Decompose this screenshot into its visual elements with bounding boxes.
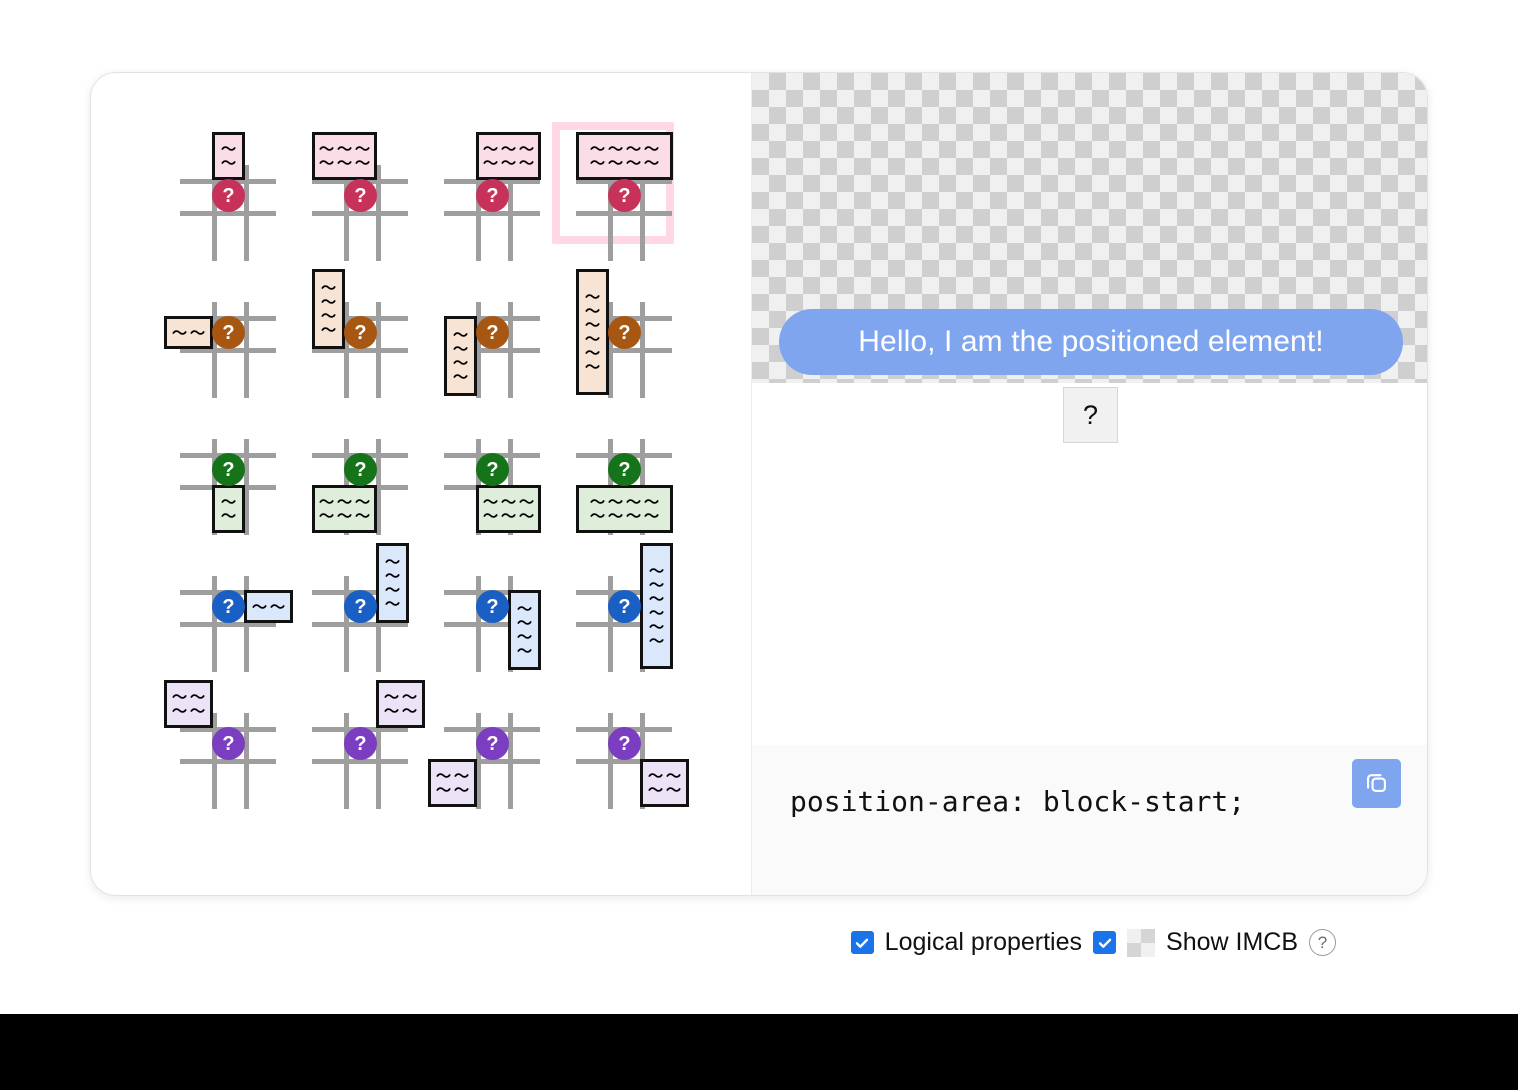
anchor-dot-inline-start: ?	[344, 316, 377, 349]
anchor-dot-block-end: ?	[476, 453, 509, 486]
anchor-dot-inline-start: ?	[212, 316, 245, 349]
squiggle-glyph: 〜	[626, 510, 641, 522]
anchor-dot-block-end: ?	[212, 453, 245, 486]
position-area-option-inline-end-single[interactable]: 〜〜?	[166, 544, 298, 681]
option-stage: 〜〜〜〜?	[298, 544, 430, 681]
show-imcb-checkbox[interactable]	[1093, 931, 1116, 954]
squiggle-glyph: 〜	[590, 157, 605, 169]
squiggle-glyph: 〜	[590, 510, 605, 522]
squiggle-glyph: 〜	[501, 157, 516, 169]
squiggle-glyph: 〜	[517, 645, 532, 657]
position-area-option-block-end-single[interactable]: 〜〜?	[166, 407, 298, 544]
anchor-dot-block-start: ?	[212, 179, 245, 212]
squiggle-row: 〜	[585, 361, 600, 373]
squiggle-glyph: 〜	[501, 510, 516, 522]
squiggle-glyph: 〜	[319, 510, 334, 522]
option-stage: 〜〜〜〜〜〜?	[430, 133, 562, 270]
copy-icon	[1363, 769, 1390, 799]
grid-line	[476, 576, 481, 672]
positioned-box-preview: 〜〜〜〜	[640, 759, 689, 807]
squiggle-row: 〜	[649, 635, 664, 647]
squiggle-row: 〜〜	[172, 705, 205, 717]
position-area-option-inline-end-span-all[interactable]: 〜〜〜〜〜〜?	[562, 544, 694, 681]
squiggle-glyph: 〜	[453, 371, 468, 383]
option-stage: 〜〜〜〜〜〜〜〜?	[562, 407, 694, 544]
option-stage: 〜〜?	[166, 270, 298, 407]
grid-line	[212, 576, 217, 672]
squiggle-glyph: 〜	[644, 510, 659, 522]
squiggle-glyph: 〜	[454, 784, 469, 796]
position-area-option-inline-end-span-block-start[interactable]: 〜〜〜〜?	[298, 544, 430, 681]
squiggle-glyph: 〜	[252, 601, 267, 613]
css-declaration-text: position-area: block-start;	[790, 785, 1245, 818]
position-area-option-block-start-span-all-none[interactable]: 〜〜?	[166, 133, 298, 270]
squiggle-row: 〜〜〜	[483, 510, 534, 522]
squiggle-glyph: 〜	[436, 784, 451, 796]
anchor-dot-diagonal: ?	[476, 727, 509, 760]
position-area-option-inline-start-span-block-start[interactable]: 〜〜〜〜?	[298, 270, 430, 407]
option-stage: 〜〜〜〜〜〜?	[562, 270, 694, 407]
squiggle-glyph: 〜	[190, 327, 205, 339]
squiggle-glyph: 〜	[648, 784, 663, 796]
squiggle-glyph: 〜	[270, 601, 285, 613]
positioned-box-preview: 〜〜〜〜〜〜	[476, 485, 541, 533]
help-icon[interactable]: ?	[1309, 929, 1336, 956]
anchor-dot-inline-start: ?	[608, 316, 641, 349]
position-area-card: 〜〜?〜〜〜〜〜〜?〜〜〜〜〜〜?〜〜〜〜〜〜〜〜?〜〜?〜〜〜〜?〜〜〜〜?〜…	[90, 72, 1428, 896]
squiggle-glyph: 〜	[519, 157, 534, 169]
squiggle-glyph: 〜	[402, 705, 417, 717]
anchor-dot-inline-end: ?	[476, 590, 509, 623]
positioned-box-preview: 〜〜〜〜	[428, 759, 477, 807]
option-stage: 〜〜〜〜〜〜?	[430, 407, 562, 544]
logical-properties-label: Logical properties	[885, 928, 1082, 957]
anchor-dot-block-start: ?	[344, 179, 377, 212]
positioned-box-preview: 〜〜〜〜	[164, 680, 213, 728]
squiggle-glyph: 〜	[608, 157, 623, 169]
option-stage: 〜〜〜〜〜〜?	[298, 407, 430, 544]
option-stage: 〜〜〜〜?	[298, 681, 430, 818]
position-area-option-block-end-span-all[interactable]: 〜〜〜〜〜〜〜〜?	[562, 407, 694, 544]
squiggle-glyph: 〜	[337, 157, 352, 169]
squiggle-glyph: 〜	[384, 705, 399, 717]
squiggle-row: 〜	[517, 645, 532, 657]
grid-line	[640, 302, 645, 398]
position-area-option-block-start-span-inline-end[interactable]: 〜〜〜〜〜〜?	[430, 133, 562, 270]
anchor-dot-block-end: ?	[608, 453, 641, 486]
positioned-box-preview: 〜〜	[212, 485, 245, 533]
grid-line	[376, 302, 381, 398]
option-stage: 〜〜〜〜〜〜〜〜?	[562, 133, 694, 270]
squiggle-glyph: 〜	[666, 784, 681, 796]
positioned-box-preview: 〜〜〜〜	[376, 543, 409, 623]
squiggle-glyph: 〜	[608, 510, 623, 522]
page-root: 〜〜?〜〜〜〜〜〜?〜〜〜〜〜〜?〜〜〜〜〜〜〜〜?〜〜?〜〜〜〜?〜〜〜〜?〜…	[0, 0, 1518, 1090]
squiggle-row: 〜〜〜	[483, 157, 534, 169]
grid-line	[244, 302, 249, 398]
squiggle-glyph: 〜	[321, 324, 336, 336]
option-stage: 〜〜〜〜?	[298, 270, 430, 407]
grid-line	[244, 713, 249, 809]
squiggle-glyph: 〜	[221, 157, 236, 169]
page-bottom-bar	[0, 1014, 1518, 1090]
position-area-option-inline-start-span-block-end[interactable]: 〜〜〜〜?	[430, 270, 562, 407]
squiggle-glyph: 〜	[626, 157, 641, 169]
positioned-box-preview: 〜〜〜〜	[444, 316, 477, 396]
code-output-box: position-area: block-start;	[752, 745, 1427, 895]
positioned-box-preview: 〜〜〜〜	[376, 680, 425, 728]
positioned-box-preview: 〜〜〜〜〜〜	[640, 543, 673, 669]
squiggle-row: 〜	[221, 157, 236, 169]
grid-line	[608, 713, 613, 809]
grid-line	[344, 576, 349, 672]
option-stage: 〜〜〜〜?	[430, 544, 562, 681]
squiggle-glyph: 〜	[172, 327, 187, 339]
option-stage: 〜〜〜〜?	[562, 681, 694, 818]
position-area-option-inline-end-span-block-end[interactable]: 〜〜〜〜?	[430, 544, 562, 681]
anchor-dot-diagonal: ?	[344, 727, 377, 760]
anchor-dot-block-start: ?	[476, 179, 509, 212]
imcb-swatch-icon	[1127, 929, 1155, 957]
positioned-box-preview: 〜〜	[212, 132, 245, 180]
position-area-option-block-end-span-inline-end[interactable]: 〜〜〜〜〜〜?	[430, 407, 562, 544]
squiggle-glyph: 〜	[221, 510, 236, 522]
option-stage: 〜〜〜〜?	[430, 681, 562, 818]
squiggle-glyph: 〜	[483, 510, 498, 522]
squiggle-row: 〜〜	[384, 705, 417, 717]
squiggle-glyph: 〜	[355, 157, 370, 169]
anchor-dot-inline-end: ?	[212, 590, 245, 623]
position-area-picker-panel: 〜〜?〜〜〜〜〜〜?〜〜〜〜〜〜?〜〜〜〜〜〜〜〜?〜〜?〜〜〜〜?〜〜〜〜?〜…	[91, 73, 751, 895]
option-stage: 〜〜〜〜?	[430, 270, 562, 407]
option-stage: 〜〜〜〜〜〜?	[562, 544, 694, 681]
option-stage: 〜〜〜〜?	[166, 681, 298, 818]
squiggle-glyph: 〜	[190, 705, 205, 717]
squiggle-row: 〜〜	[172, 327, 205, 339]
squiggle-row: 〜〜〜〜	[590, 157, 659, 169]
squiggle-glyph: 〜	[355, 510, 370, 522]
position-area-option-inline-start-single[interactable]: 〜〜?	[166, 270, 298, 407]
squiggle-glyph: 〜	[172, 705, 187, 717]
anchor-dot-inline-end: ?	[344, 590, 377, 623]
option-stage: 〜〜?	[166, 133, 298, 270]
option-stage: 〜〜?	[166, 407, 298, 544]
options-row: Logical properties Show IMCB ?	[0, 928, 1428, 957]
squiggle-glyph: 〜	[385, 598, 400, 610]
squiggle-glyph: 〜	[649, 635, 664, 647]
positioned-box-preview: 〜〜〜〜	[508, 590, 541, 670]
show-imcb-label: Show IMCB	[1166, 928, 1298, 957]
position-area-option-start-end[interactable]: 〜〜〜〜?	[298, 681, 430, 818]
squiggle-glyph: 〜	[337, 510, 352, 522]
anchor-element-chip[interactable]: ?	[1063, 387, 1118, 443]
anchor-dot-inline-end: ?	[608, 590, 641, 623]
position-area-option-block-start-span-all[interactable]: 〜〜〜〜〜〜〜〜?	[562, 133, 694, 270]
squiggle-glyph: 〜	[319, 157, 334, 169]
positioned-box-preview: 〜〜	[164, 316, 213, 349]
position-area-option-block-start-span-inline-start[interactable]: 〜〜〜〜〜〜?	[298, 133, 430, 270]
positioned-box-preview: 〜〜〜〜〜〜	[576, 269, 609, 395]
positioned-box-preview: 〜〜〜〜〜〜	[312, 485, 377, 533]
position-area-option-inline-start-span-all[interactable]: 〜〜〜〜〜〜?	[562, 270, 694, 407]
positioned-box-preview: 〜〜	[244, 590, 293, 623]
anchor-dot-diagonal: ?	[212, 727, 245, 760]
grid-line	[508, 713, 513, 809]
position-area-option-end-end[interactable]: 〜〜〜〜?	[562, 681, 694, 818]
squiggle-row: 〜	[385, 598, 400, 610]
squiggle-row: 〜〜	[436, 784, 469, 796]
grid-line	[508, 302, 513, 398]
logical-properties-checkbox[interactable]	[851, 931, 874, 954]
anchor-dot-diagonal: ?	[608, 727, 641, 760]
squiggle-row: 〜〜	[252, 601, 285, 613]
squiggle-row: 〜	[221, 510, 236, 522]
position-area-option-start-start[interactable]: 〜〜〜〜?	[166, 681, 298, 818]
squiggle-row: 〜〜〜	[319, 157, 370, 169]
positioned-box-preview: 〜〜〜〜〜〜〜〜	[576, 485, 673, 533]
positioned-box-preview: 〜〜〜〜〜〜〜〜	[576, 132, 673, 180]
preview-panel: Hello, I am the positioned element! ? po…	[751, 73, 1427, 895]
grid-line	[608, 576, 613, 672]
squiggle-glyph: 〜	[519, 510, 534, 522]
squiggle-glyph: 〜	[644, 157, 659, 169]
squiggle-glyph: 〜	[483, 157, 498, 169]
positioned-element-bubble: Hello, I am the positioned element!	[779, 309, 1403, 375]
squiggle-row: 〜〜〜	[319, 510, 370, 522]
grid-line	[344, 713, 349, 809]
squiggle-glyph: 〜	[585, 361, 600, 373]
anchor-dot-block-end: ?	[344, 453, 377, 486]
anchor-dot-inline-start: ?	[476, 316, 509, 349]
anchor-dot-block-start: ?	[608, 179, 641, 212]
squiggle-row: 〜〜〜〜	[590, 510, 659, 522]
option-stage: 〜〜?	[166, 544, 298, 681]
position-area-matrix[interactable]: 〜〜?〜〜〜〜〜〜?〜〜〜〜〜〜?〜〜〜〜〜〜〜〜?〜〜?〜〜〜〜?〜〜〜〜?〜…	[166, 133, 694, 818]
copy-code-button[interactable]	[1352, 759, 1401, 808]
squiggle-row: 〜	[321, 324, 336, 336]
positioned-box-preview: 〜〜〜〜〜〜	[312, 132, 377, 180]
squiggle-row: 〜	[453, 371, 468, 383]
positioned-box-preview: 〜〜〜〜	[312, 269, 345, 349]
position-area-option-block-end-span-inline-start[interactable]: 〜〜〜〜〜〜?	[298, 407, 430, 544]
option-stage: 〜〜〜〜〜〜?	[298, 133, 430, 270]
position-area-option-end-start[interactable]: 〜〜〜〜?	[430, 681, 562, 818]
positioned-box-preview: 〜〜〜〜〜〜	[476, 132, 541, 180]
squiggle-row: 〜〜	[648, 784, 681, 796]
